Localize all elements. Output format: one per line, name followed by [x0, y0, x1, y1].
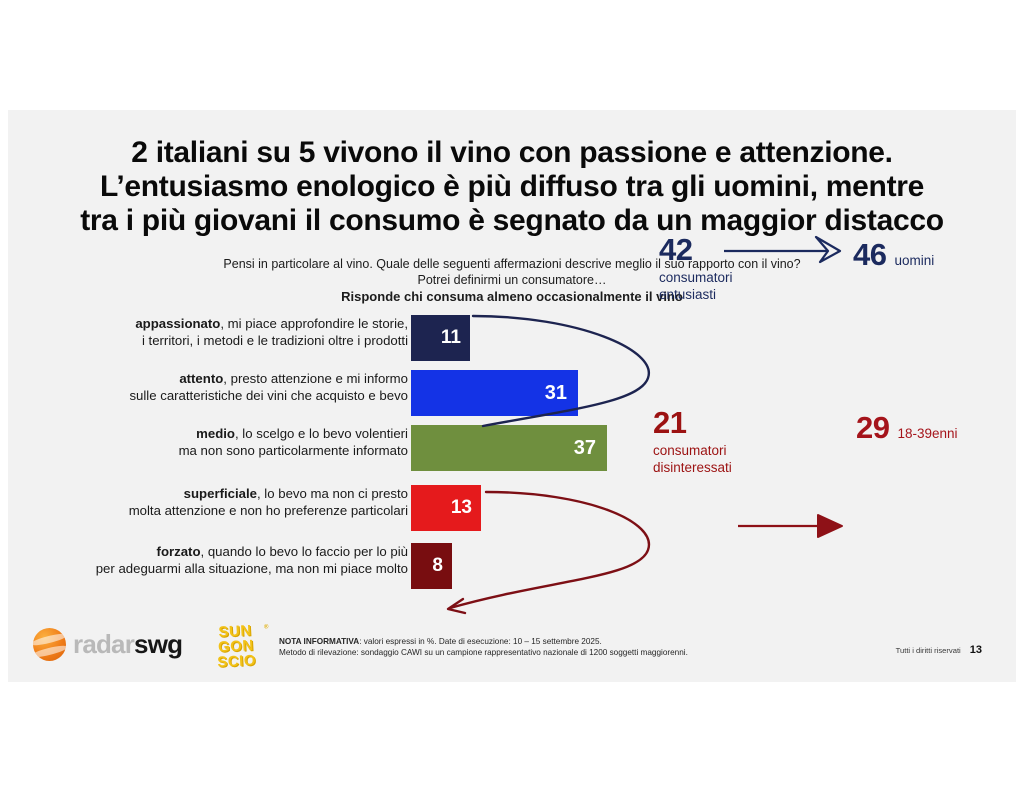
rights-text: Tutti i diritti riservati [896, 646, 961, 655]
row-label-line2-forzato: per adeguarmi alla situazione, ma non mi… [96, 561, 408, 576]
row-label-bold-medio: medio [196, 426, 235, 441]
target-giovani-value: 29 [856, 410, 889, 446]
methodology-note: NOTA INFORMATIVA: valori espressi in %. … [279, 636, 688, 658]
sungonscio-line-3: SCIO [205, 652, 268, 670]
radar-wordmark-text: radar [73, 629, 134, 659]
bar-appassionato: 11 [411, 315, 470, 361]
bar-value-superficiale: 13 [451, 497, 481, 519]
bar-chart: appassionato, mi piace approfondire le s… [8, 315, 1016, 615]
methodology-note-heading: NOTA INFORMATIVA [279, 637, 359, 646]
title-line-1: 2 italiani su 5 vivono il vino con passi… [8, 136, 1016, 170]
bar-attento: 31 [411, 370, 578, 416]
row-label-appassionato: appassionato, mi piace approfondire le s… [48, 315, 408, 349]
chart-row-forzato: forzato, quando lo bevo lo faccio per lo… [8, 543, 1016, 589]
chart-row-superficiale: superficiale, lo bevo ma non ci presto m… [8, 485, 1016, 531]
row-label-medio: medio, lo scelgo e lo bevo volentieri ma… [48, 425, 408, 459]
radar-swg-wordmark: radarswg [73, 629, 182, 660]
row-label-rest-appassionato: , mi piace approfondire le storie, [220, 316, 408, 331]
swg-wordmark-text: swg [134, 629, 182, 659]
page-title: 2 italiani su 5 vivono il vino con passi… [8, 136, 1016, 238]
registered-mark: ® [264, 620, 270, 635]
target-uomini: 46 uomini [853, 237, 934, 273]
row-label-rest-attento: , presto attenzione e mi informo [223, 371, 408, 386]
target-uomini-value: 46 [853, 237, 886, 273]
bar-medio: 37 [411, 425, 607, 471]
callout-entusiasti-label: consumatori entusiasti [659, 269, 733, 303]
title-line-3: tra i più giovani il consumo è segnato d… [8, 204, 1016, 238]
target-giovani-unit: 18-39enni [897, 426, 957, 441]
radar-swg-logo: radarswg [33, 628, 182, 661]
page-number: 13 [970, 644, 982, 656]
bar-superficiale: 13 [411, 485, 481, 531]
slide-canvas: 2 italiani su 5 vivono il vino con passi… [8, 110, 1016, 682]
title-line-2: L’entusiasmo enologico è più diffuso tra… [8, 170, 1016, 204]
callout-disinteressati-label-line2: disinteressati [653, 460, 732, 475]
callout-disinteressati-label-line1: consumatori [653, 443, 727, 458]
row-label-superficiale: superficiale, lo bevo ma non ci presto m… [48, 485, 408, 519]
callout-disinteressati-value: 21 [653, 407, 732, 439]
row-label-bold-attento: attento [179, 371, 223, 386]
survey-question-line-2: Potrei definirmi un consumatore… [8, 272, 1016, 288]
callout-disinteressati: 21 consumatori disinteressati [653, 407, 732, 476]
bar-value-appassionato: 11 [441, 327, 470, 349]
row-label-bold-superficiale: superficiale [184, 486, 257, 501]
row-label-rest-medio: , lo scelgo e lo bevo volentieri [235, 426, 408, 441]
row-label-rest-forzato: , quando lo bevo lo faccio per lo più [201, 544, 408, 559]
methodology-note-line-1-rest: : valori espressi in %. Date di esecuzio… [359, 637, 602, 646]
sungonscio-logo: ® SUN GON SCIO [204, 622, 268, 673]
target-giovani: 29 18-39enni [856, 410, 958, 446]
callout-disinteressati-label: consumatori disinteressati [653, 442, 732, 476]
survey-base-note: Risponde chi consuma almeno occasionalme… [8, 289, 1016, 305]
methodology-note-line-2: Metodo di rilevazione: sondaggio CAWI su… [279, 647, 688, 658]
bar-value-forzato: 8 [432, 555, 452, 577]
row-label-line2-attento: sulle caratteristiche dei vini che acqui… [129, 388, 408, 403]
target-uomini-unit: uomini [894, 253, 934, 268]
row-label-attento: attento, presto attenzione e mi informo … [48, 370, 408, 404]
callout-entusiasti-label-line1: consumatori [659, 270, 733, 285]
callout-entusiasti-label-line2: entusiasti [659, 287, 716, 302]
row-label-rest-superficiale: , lo bevo ma non ci presto [257, 486, 408, 501]
row-label-bold-appassionato: appassionato [135, 316, 220, 331]
callout-entusiasti-value: 42 [659, 234, 733, 266]
methodology-note-line-1: NOTA INFORMATIVA: valori espressi in %. … [279, 636, 688, 647]
row-label-forzato: forzato, quando lo bevo lo faccio per lo… [48, 543, 408, 577]
row-label-bold-forzato: forzato [157, 544, 201, 559]
chart-row-appassionato: appassionato, mi piace approfondire le s… [8, 315, 1016, 361]
footer-right: Tutti i diritti riservati 13 [896, 644, 982, 656]
row-label-line2-appassionato: i territori, i metodi e le tradizioni ol… [142, 333, 408, 348]
bar-forzato: 8 [411, 543, 452, 589]
bar-value-attento: 31 [545, 382, 578, 405]
row-label-line2-superficiale: molta attenzione e non ho preferenze par… [129, 503, 408, 518]
callout-entusiasti: 42 consumatori entusiasti [659, 234, 733, 303]
bar-value-medio: 37 [574, 437, 607, 460]
row-label-line2-medio: ma non sono particolarmente informato [179, 443, 408, 458]
sphere-icon [33, 628, 66, 661]
